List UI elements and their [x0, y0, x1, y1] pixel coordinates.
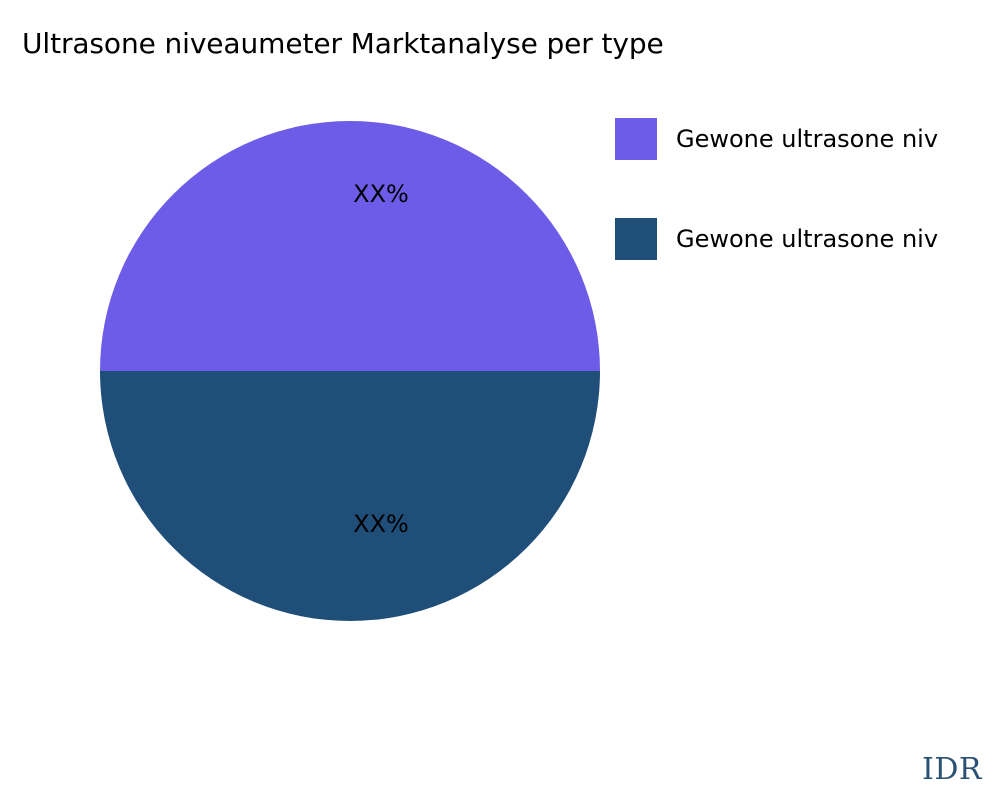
- legend-item-label: Gewone ultrasone niv: [676, 225, 938, 253]
- pie-chart-figure: Ultrasone niveaumeter Marktanalyse per t…: [0, 0, 1000, 800]
- watermark-text: IDR: [922, 752, 982, 787]
- pie-plot-area: [100, 121, 600, 621]
- legend-item[interactable]: Gewone ultrasone niv: [615, 218, 1000, 260]
- chart-legend: Gewone ultrasone niv Gewone ultrasone ni…: [615, 118, 1000, 318]
- legend-item[interactable]: Gewone ultrasone niv: [615, 118, 1000, 160]
- legend-swatch-icon: [615, 218, 657, 260]
- pie-svg: [100, 121, 600, 621]
- pie-slice-gewone-ultrasone-niv-0[interactable]: [100, 121, 600, 371]
- legend-item-label: Gewone ultrasone niv: [676, 125, 938, 153]
- pie-slice-gewone-ultrasone-niv-1[interactable]: [100, 371, 600, 621]
- chart-title: Ultrasone niveaumeter Marktanalyse per t…: [22, 27, 664, 61]
- legend-swatch-icon: [615, 118, 657, 160]
